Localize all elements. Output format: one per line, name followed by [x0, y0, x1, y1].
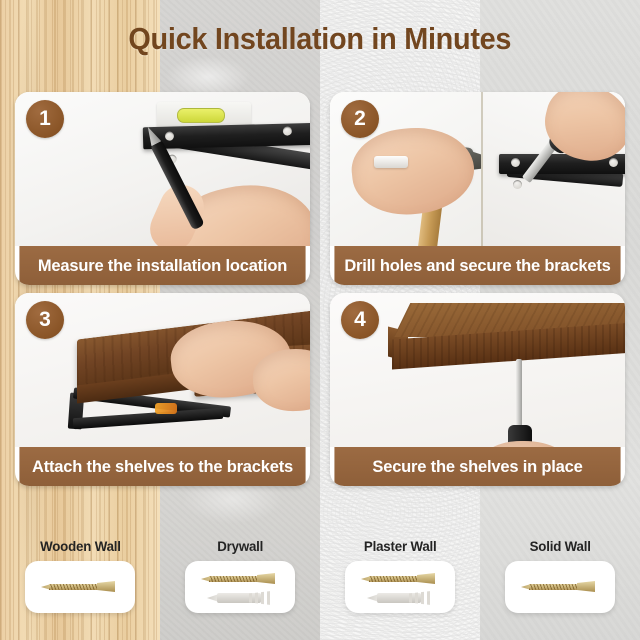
screw-head	[417, 573, 435, 584]
wall-type-label: Plaster Wall	[364, 538, 437, 554]
hardware-card[interactable]	[505, 561, 615, 613]
step-badge-4: 4	[341, 301, 379, 339]
step-badge-2: 2	[341, 100, 379, 138]
wall-type-label: Drywall	[217, 538, 263, 554]
wall-type-drywall[interactable]: Drywall	[160, 528, 320, 640]
wood-screw-icon	[361, 573, 437, 584]
expansion-anchor-icon	[207, 591, 271, 605]
screw-shank	[49, 584, 99, 590]
wall-type-wooden[interactable]: Wooden Wall	[0, 528, 160, 640]
wall-type-label: Solid Wall	[529, 538, 590, 554]
wall-plug-anchor-icon	[367, 591, 431, 605]
screw-shank	[209, 576, 259, 582]
wall-bracket	[143, 123, 310, 150]
hardware-card[interactable]	[25, 561, 135, 613]
step-caption-2: Drill holes and secure the brackets	[334, 246, 620, 285]
step-card-2[interactable]: 2 Drill holes and secure the brackets	[330, 92, 625, 285]
wood-screw-icon	[41, 581, 117, 592]
bracket-hole-icon	[165, 132, 174, 141]
wall-type-solid[interactable]: Solid Wall	[480, 528, 640, 640]
wall-anchor-icon	[374, 156, 408, 168]
bracket-hole-icon	[511, 158, 520, 167]
step-card-4[interactable]: 4 Secure the shelves in place	[330, 293, 625, 486]
page-title: Quick Installation in Minutes	[0, 0, 640, 78]
step-caption-4: Secure the shelves in place	[334, 447, 620, 486]
wall-types-row: Wooden Wall Drywall	[0, 528, 640, 640]
screw-shank	[529, 584, 579, 590]
photo-half-screwdriver	[481, 92, 625, 246]
hand-graphic	[348, 122, 478, 220]
screw-head	[97, 581, 115, 592]
bracket-highlight	[155, 403, 177, 414]
hardware-card[interactable]	[345, 561, 455, 613]
page-title-text: Quick Installation in Minutes	[129, 21, 512, 57]
installation-infographic: Quick Installation in Minutes	[0, 0, 640, 640]
screwdriver-shaft-icon	[516, 359, 522, 433]
bracket-hole-icon	[609, 158, 618, 167]
wood-screw-icon	[201, 573, 277, 584]
hardware-card[interactable]	[185, 561, 295, 613]
step-badge-1: 1	[26, 100, 64, 138]
bracket-hole-icon	[513, 180, 522, 189]
steps-grid: 1 Measure the installation location	[15, 92, 625, 486]
step-caption-1: Measure the installation location	[19, 246, 305, 285]
bracket-hole-icon	[283, 126, 292, 135]
screw-head	[257, 573, 275, 584]
step-card-3[interactable]: 3 Attach the shelves to the brackets	[15, 293, 310, 486]
wall-type-plaster[interactable]: Plaster Wall	[320, 528, 480, 640]
wall-type-label: Wooden Wall	[40, 538, 121, 554]
step-caption-3: Attach the shelves to the brackets	[19, 447, 305, 486]
level-bubble-vial	[177, 108, 225, 123]
step-badge-3: 3	[26, 301, 64, 339]
screw-head	[577, 581, 595, 592]
step-card-1[interactable]: 1 Measure the installation location	[15, 92, 310, 285]
screw-shank	[369, 576, 419, 582]
wood-screw-icon	[521, 581, 597, 592]
